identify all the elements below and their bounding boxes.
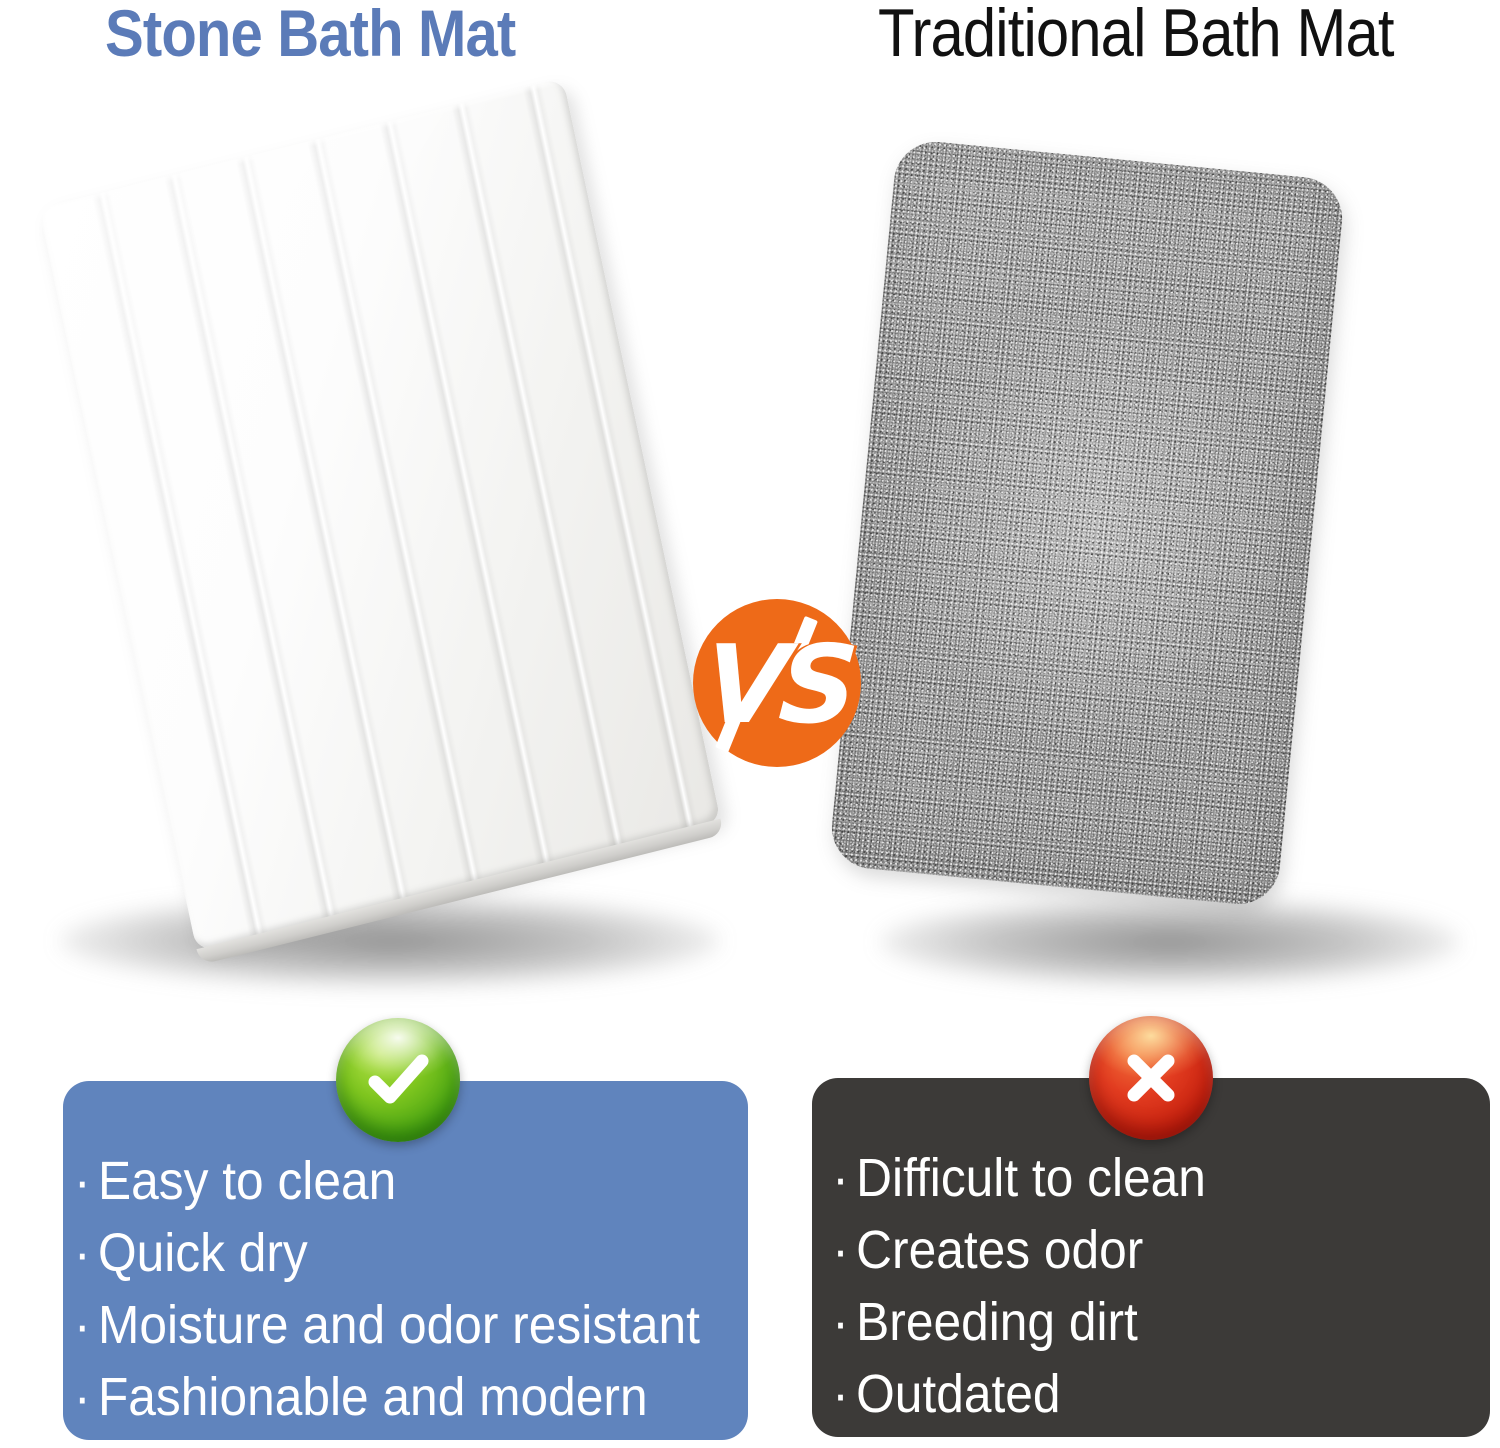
list-item: ·Moisture and odor resistant [63, 1289, 693, 1361]
stone-bath-mat-image [39, 78, 721, 952]
vs-badge: VS [693, 599, 861, 767]
list-item: ·Outdated [812, 1358, 1436, 1430]
bullet-icon: · [832, 1358, 856, 1430]
list-item: ·Fashionable and modern [63, 1361, 693, 1433]
bullet-icon: · [74, 1145, 98, 1217]
check-icon [336, 1018, 460, 1142]
cons-item-label: Outdated [856, 1364, 1060, 1424]
traditional-mat-shadow [880, 898, 1460, 986]
list-item: ·Creates odor [812, 1214, 1436, 1286]
pros-item-label: Quick dry [98, 1223, 308, 1283]
pros-item-label: Moisture and odor resistant [98, 1295, 700, 1355]
product-comparison-stage: VS [0, 80, 1500, 990]
bullet-icon: · [832, 1214, 856, 1286]
list-item: ·Breeding dirt [812, 1286, 1436, 1358]
page-title-stone-bath-mat: Stone Bath Mat [105, 0, 515, 70]
pros-list: ·Easy to clean ·Quick dry ·Moisture and … [63, 1145, 748, 1433]
list-item: ·Quick dry [63, 1217, 693, 1289]
bullet-icon: · [74, 1289, 98, 1361]
bullet-icon: · [74, 1217, 98, 1289]
cons-item-label: Creates odor [856, 1220, 1143, 1280]
page-title-traditional-bath-mat: Traditional Bath Mat [878, 0, 1394, 70]
pros-item-label: Fashionable and modern [98, 1367, 648, 1427]
cons-list: ·Difficult to clean ·Creates odor ·Breed… [812, 1142, 1490, 1430]
pros-item-label: Easy to clean [98, 1151, 396, 1211]
vs-badge-label: VS [687, 601, 867, 769]
bullet-icon: · [832, 1142, 856, 1214]
cons-item-label: Breeding dirt [856, 1292, 1138, 1352]
cross-icon [1089, 1016, 1213, 1140]
bullet-icon: · [832, 1286, 856, 1358]
fabric-texture-overlay [828, 138, 1346, 908]
list-item: ·Easy to clean [63, 1145, 693, 1217]
cons-item-label: Difficult to clean [856, 1148, 1206, 1208]
bullet-icon: · [74, 1361, 98, 1433]
traditional-bath-mat-image [828, 138, 1346, 908]
list-item: ·Difficult to clean [812, 1142, 1436, 1214]
